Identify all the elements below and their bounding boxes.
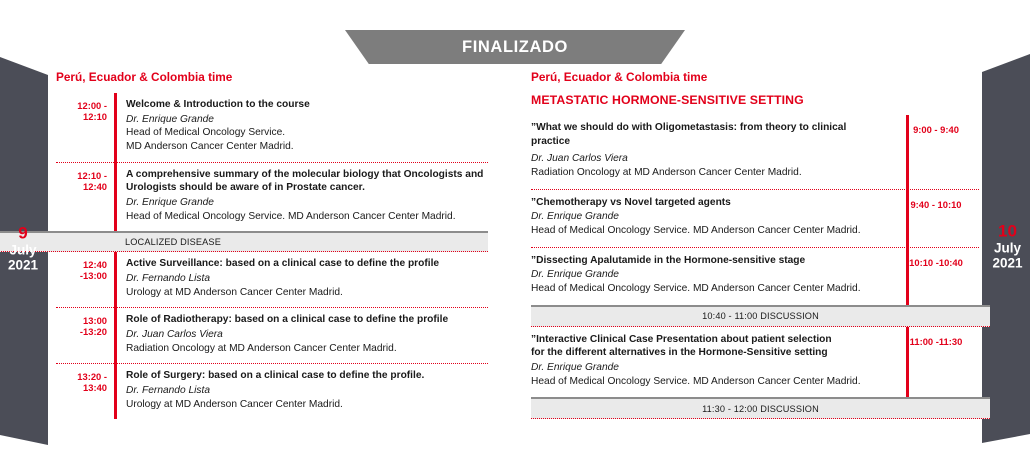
date-tab-right-text: 10 July 2021	[982, 221, 1030, 270]
date-tab-left-year: 2021	[0, 257, 46, 272]
session-affiliation: Radiation Oncology at MD Anderson Cancer…	[531, 166, 881, 180]
session-row: 12:40 -13:00 Active Surveillance: based …	[56, 252, 488, 307]
date-tab-right-day: 10	[985, 221, 1030, 240]
date-tab-right-year: 2021	[985, 255, 1030, 270]
session-affiliation: Head of Medical Oncology Service. MD And…	[531, 282, 881, 296]
session-time: 11:00 -11:30	[893, 333, 979, 347]
session-time: 13:20 - 13:40	[56, 369, 115, 393]
session-title: Welcome & Introduction to the course	[126, 98, 488, 112]
date-tab-right: 10 July 2021	[982, 48, 1030, 443]
session-title: ”Dissecting Apalutamide in the Hormone-s…	[531, 254, 881, 268]
session-speaker: Dr. Juan Carlos Viera	[126, 328, 488, 342]
session-title: ”Chemotherapy vs Novel targeted agents	[531, 196, 881, 210]
date-tab-right-month: July	[985, 240, 1030, 255]
session-time: 12:40 -13:00	[56, 257, 115, 281]
session-affiliation: Radiation Oncology at MD Anderson Cancer…	[126, 342, 488, 356]
section-band-localized-disease: LOCALIZED DISEASE	[0, 231, 488, 252]
left-sessions-wrap: 12:00 - 12:10 Welcome & Introduction to …	[56, 93, 488, 419]
session-speaker: Dr. Enrique Grande	[126, 196, 488, 210]
session-body: Welcome & Introduction to the course Dr.…	[115, 98, 488, 154]
session-affiliation: Head of Medical Oncology Service. MD And…	[531, 375, 881, 389]
session-speaker: Dr. Enrique Grande	[531, 210, 881, 224]
session-title: Role of Surgery: based on a clinical cas…	[126, 369, 488, 383]
session-row: 13:20 - 13:40 Role of Surgery: based on …	[56, 363, 488, 419]
session-time: 12:00 - 12:10	[56, 98, 115, 122]
session-time: 9:40 - 10:10	[893, 196, 979, 210]
session-time: 12:10 - 12:40	[56, 168, 115, 192]
session-speaker: Dr. Enrique Grande	[531, 361, 881, 375]
session-body: ”Interactive Clinical Case Presentation …	[531, 333, 893, 389]
session-row: ”Interactive Clinical Case Presentation …	[531, 327, 979, 398]
section-title-metastatic: METASTATIC HORMONE-SENSITIVE SETTING	[531, 93, 979, 107]
status-badge: FINALIZADO	[345, 30, 685, 64]
session-affiliation: Head of Medical Oncology Service.MD Ande…	[126, 126, 488, 153]
session-row: 12:00 - 12:10 Welcome & Introduction to …	[56, 93, 488, 162]
session-affiliation: Urology at MD Anderson Cancer Center Mad…	[126, 286, 488, 300]
session-speaker: Dr. Enrique Grande	[126, 113, 488, 127]
session-title: Role of Radiotherapy: based on a clinica…	[126, 313, 488, 327]
right-sessions-wrap: ”What we should do with Oligometastasis:…	[531, 115, 979, 419]
discussion-band-label: 11:30 - 12:00 DISCUSSION	[702, 404, 819, 414]
session-body: ”Dissecting Apalutamide in the Hormone-s…	[531, 254, 893, 296]
agenda-page: 9 July 2021 10 July 2021 FINALIZADO Perú…	[0, 0, 1030, 450]
date-tab-left-month: July	[0, 242, 46, 257]
session-speaker: Dr. Fernando Lista	[126, 272, 488, 286]
session-body: A comprehensive summary of the molecular…	[115, 168, 488, 224]
session-body: ”Chemotherapy vs Novel targeted agents D…	[531, 196, 893, 238]
discussion-band: 11:30 - 12:00 DISCUSSION	[531, 397, 990, 419]
session-affiliation: Urology at MD Anderson Cancer Center Mad…	[126, 398, 488, 412]
discussion-band-label: 10:40 - 11:00 DISCUSSION	[702, 311, 819, 321]
timezone-label-right: Perú, Ecuador & Colombia time	[531, 70, 979, 84]
session-title: Active Surveillance: based on a clinical…	[126, 257, 488, 271]
session-time: 9:00 - 9:40	[893, 121, 979, 135]
session-time: 13:00 -13:20	[56, 313, 115, 337]
timezone-label-left: Perú, Ecuador & Colombia time	[56, 70, 488, 84]
agenda-column-left: Perú, Ecuador & Colombia time 12:00 - 12…	[56, 70, 488, 419]
session-body: Active Surveillance: based on a clinical…	[115, 257, 488, 299]
session-affiliation: Head of Medical Oncology Service. MD And…	[126, 210, 488, 224]
session-row: ”What we should do with Oligometastasis:…	[531, 115, 979, 189]
session-row: ”Dissecting Apalutamide in the Hormone-s…	[531, 247, 979, 305]
session-affiliation: Head of Medical Oncology Service. MD And…	[531, 224, 881, 238]
session-speaker: Dr. Enrique Grande	[531, 268, 881, 282]
session-body: Role of Surgery: based on a clinical cas…	[115, 369, 488, 411]
discussion-band: 10:40 - 11:00 DISCUSSION	[531, 305, 990, 327]
session-row: ”Chemotherapy vs Novel targeted agents D…	[531, 189, 979, 247]
date-tab-left-text: 9 July 2021	[0, 223, 48, 272]
session-speaker: Dr. Juan Carlos Viera	[531, 152, 881, 166]
session-title: ”Interactive Clinical Case Presentation …	[531, 333, 881, 360]
agenda-column-right: Perú, Ecuador & Colombia time METASTATIC…	[531, 70, 979, 419]
session-title: A comprehensive summary of the molecular…	[126, 168, 488, 195]
session-title: ”What we should do with Oligometastasis:…	[531, 121, 881, 148]
session-row: 13:00 -13:20 Role of Radiotherapy: based…	[56, 307, 488, 363]
session-body: ”What we should do with Oligometastasis:…	[531, 121, 893, 180]
session-row: 12:10 - 12:40 A comprehensive summary of…	[56, 162, 488, 232]
session-speaker: Dr. Fernando Lista	[126, 384, 488, 398]
date-tab-left: 9 July 2021	[0, 50, 48, 445]
session-time: 10:10 -10:40	[893, 254, 979, 268]
session-body: Role of Radiotherapy: based on a clinica…	[115, 313, 488, 355]
date-tab-left-day: 9	[0, 223, 46, 242]
